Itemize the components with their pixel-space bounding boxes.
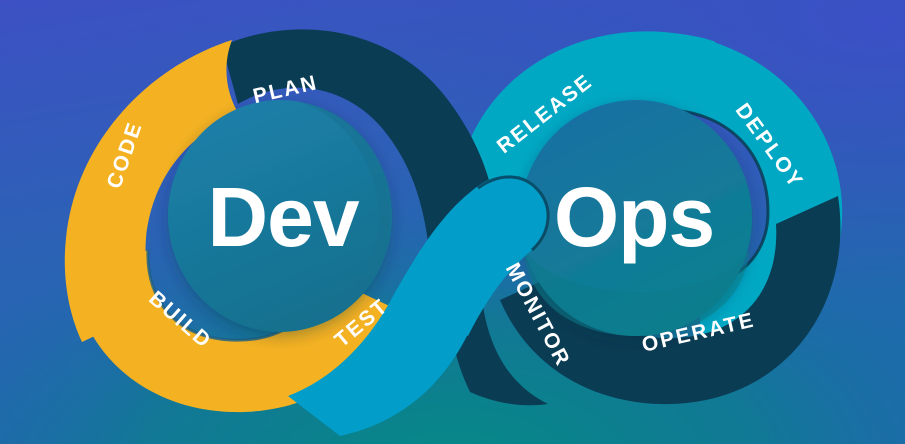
core-label-ops: Ops xyxy=(554,170,714,264)
devops-diagram: PLAN CODE BUILD TEST RELEASE DEPLOY OPER… xyxy=(0,0,905,444)
devops-infinity-svg: PLAN CODE BUILD TEST RELEASE DEPLOY OPER… xyxy=(0,0,905,444)
core-label-dev: Dev xyxy=(207,170,359,264)
